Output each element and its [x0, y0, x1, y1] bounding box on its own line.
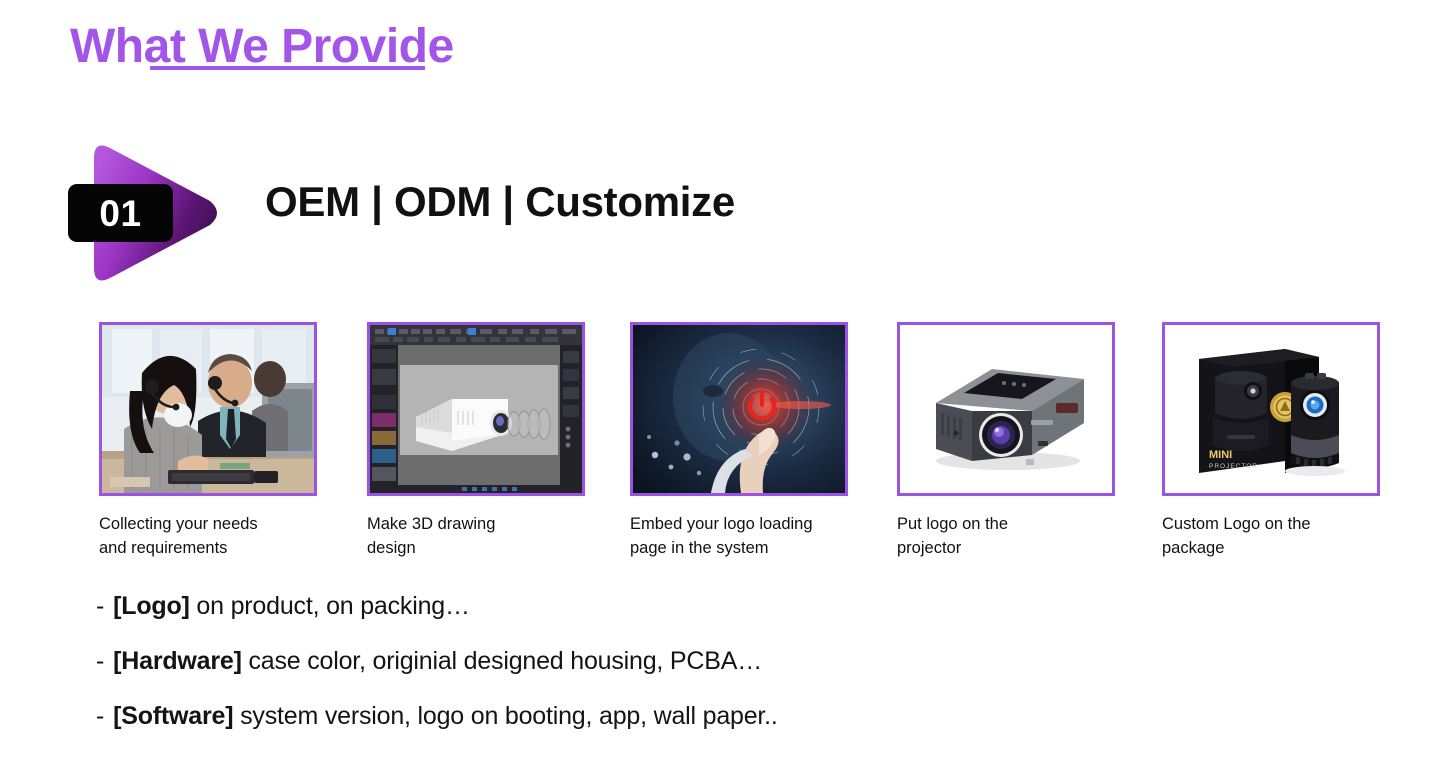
page-title: What We Provide [70, 22, 454, 72]
card-caption: Put logo on the projector [897, 513, 1132, 561]
card-caption-line2: and requirements [99, 537, 334, 561]
step-number: 01 [99, 195, 141, 232]
bullet-dash: - [96, 647, 104, 675]
feature-card: Put logo on the projector [897, 322, 1115, 561]
card-image-frame [99, 322, 317, 496]
bullet-item: -[Logo] on product, on packing… [96, 592, 778, 621]
feature-card: Embed your logo loading page in the syst… [630, 322, 848, 561]
finger-pressing-power-button-photo [633, 325, 845, 493]
bullet-text: on product, on packing… [190, 592, 470, 620]
3d-cad-software-screenshot [370, 325, 582, 493]
card-caption-line2: package [1162, 537, 1397, 561]
card-caption-line1: Collecting your needs [99, 513, 334, 537]
bullet-item: -[Hardware] case color, originial design… [96, 647, 778, 676]
card-caption: Custom Logo on the package [1162, 513, 1397, 561]
mini-projector-box-package-photo: MINI PROJECTOR [1165, 325, 1377, 493]
bullet-term: [Logo] [113, 592, 190, 620]
offering-bullet-list: -[Logo] on product, on packing… -[Hardwa… [96, 592, 778, 757]
feature-card-row: Collecting your needs and requirements [99, 322, 1389, 557]
step-badge: 01 [68, 138, 223, 288]
card-image-frame [897, 322, 1115, 496]
title-underline [150, 66, 425, 70]
card-caption: Embed your logo loading page in the syst… [630, 513, 865, 561]
step-number-box: 01 [68, 184, 173, 242]
card-image-frame [367, 322, 585, 496]
feature-card: MINI PROJECTOR [1162, 322, 1380, 561]
bullet-term: [Hardware] [113, 647, 242, 675]
bullet-dash: - [96, 592, 104, 620]
grey-projector-product-photo [900, 325, 1112, 493]
card-caption-line2: projector [897, 537, 1132, 561]
bullet-item: -[Software] system version, logo on boot… [96, 702, 778, 731]
bullet-text: system version, logo on booting, app, wa… [233, 702, 777, 730]
card-caption-line1: Make 3D drawing [367, 513, 602, 537]
card-caption-line2: design [367, 537, 602, 561]
card-image-frame [630, 322, 848, 496]
step-heading: OEM | ODM | Customize [265, 178, 735, 226]
bullet-dash: - [96, 702, 104, 730]
bullet-text: case color, originial designed housing, … [242, 647, 762, 675]
package-projector-label: PROJECTOR [1209, 463, 1258, 470]
card-caption-line2: page in the system [630, 537, 865, 561]
package-mini-label: MINI [1209, 449, 1232, 461]
card-caption-line1: Put logo on the [897, 513, 1132, 537]
card-caption: Collecting your needs and requirements [99, 513, 334, 561]
feature-card: Make 3D drawing design [367, 322, 585, 561]
call-center-staff-photo [102, 325, 314, 493]
card-caption-line1: Embed your logo loading [630, 513, 865, 537]
card-caption: Make 3D drawing design [367, 513, 602, 561]
bullet-term: [Software] [113, 702, 233, 730]
feature-card: Collecting your needs and requirements [99, 322, 317, 561]
section-title-block: What We Provide [70, 22, 454, 72]
card-image-frame: MINI PROJECTOR [1162, 322, 1380, 496]
card-caption-line1: Custom Logo on the [1162, 513, 1397, 537]
